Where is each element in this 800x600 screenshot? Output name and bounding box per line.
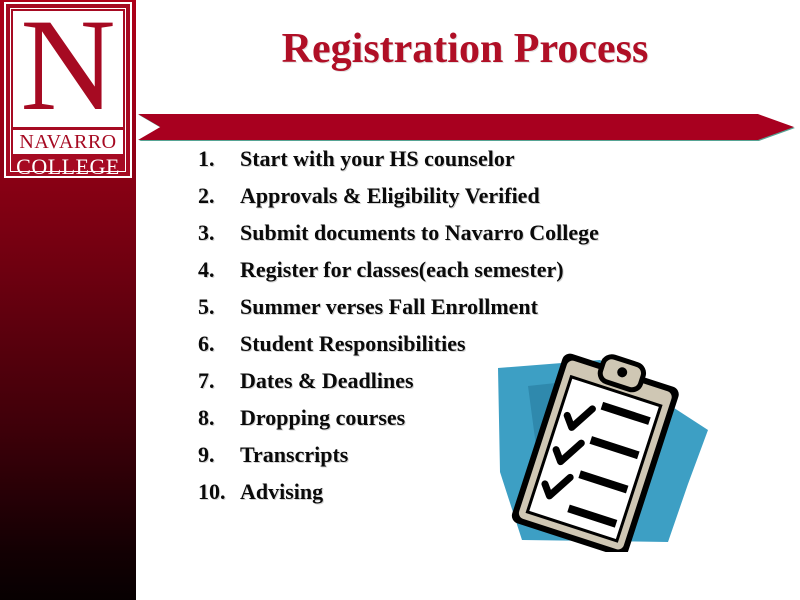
list-item-label: Advising: [240, 479, 323, 505]
list-item-number: 1.: [198, 146, 240, 172]
page-title: Registration Process: [150, 25, 780, 73]
list-item-number: 2.: [198, 183, 240, 209]
list-item-number: 9.: [198, 442, 240, 468]
list-item: 5. Summer verses Fall Enrollment: [198, 294, 758, 331]
arrow-divider-body: [138, 114, 794, 140]
list-item: 2. Approvals & Eligibility Verified: [198, 183, 758, 220]
list-item-label: Dropping courses: [240, 405, 405, 431]
list-item-label: Student Responsibilities: [240, 331, 466, 357]
list-item-label: Transcripts: [240, 442, 348, 468]
list-item: 4. Register for classes(each semester): [198, 257, 758, 294]
list-item-number: 3.: [198, 220, 240, 246]
logo-college-text: COLLEGE: [16, 154, 120, 180]
list-item-number: 8.: [198, 405, 240, 431]
logo-wordmark-navarro: NAVARRO: [13, 130, 123, 154]
list-item-label: Register for classes(each semester): [240, 257, 564, 283]
list-item-number: 5.: [198, 294, 240, 320]
logo-monogram-panel: N: [13, 11, 123, 127]
slide-canvas: N NAVARRO COLLEGE Registration Process 1…: [0, 0, 800, 600]
list-item: 3. Submit documents to Navarro College: [198, 220, 758, 257]
list-item-number: 10.: [198, 479, 240, 505]
logo-inner-frame: N NAVARRO COLLEGE: [10, 8, 126, 172]
list-item-label: Submit documents to Navarro College: [240, 220, 599, 246]
list-item-label: Dates & Deadlines: [240, 368, 414, 394]
logo-monogram-n: N: [20, 11, 115, 127]
list-item-number: 4.: [198, 257, 240, 283]
list-item-number: 6.: [198, 331, 240, 357]
list-item-number: 7.: [198, 368, 240, 394]
logo-wordmark-college: COLLEGE: [13, 154, 123, 180]
list-item: 1. Start with your HS counselor: [198, 146, 758, 183]
logo-navarro-text: NAVARRO: [19, 131, 116, 154]
clipboard-checklist-icon: [482, 352, 708, 552]
arrow-divider: [138, 114, 794, 140]
list-item-label: Approvals & Eligibility Verified: [240, 183, 540, 209]
list-item-label: Start with your HS counselor: [240, 146, 515, 172]
list-item-label: Summer verses Fall Enrollment: [240, 294, 538, 320]
navarro-college-logo: N NAVARRO COLLEGE: [4, 2, 132, 178]
